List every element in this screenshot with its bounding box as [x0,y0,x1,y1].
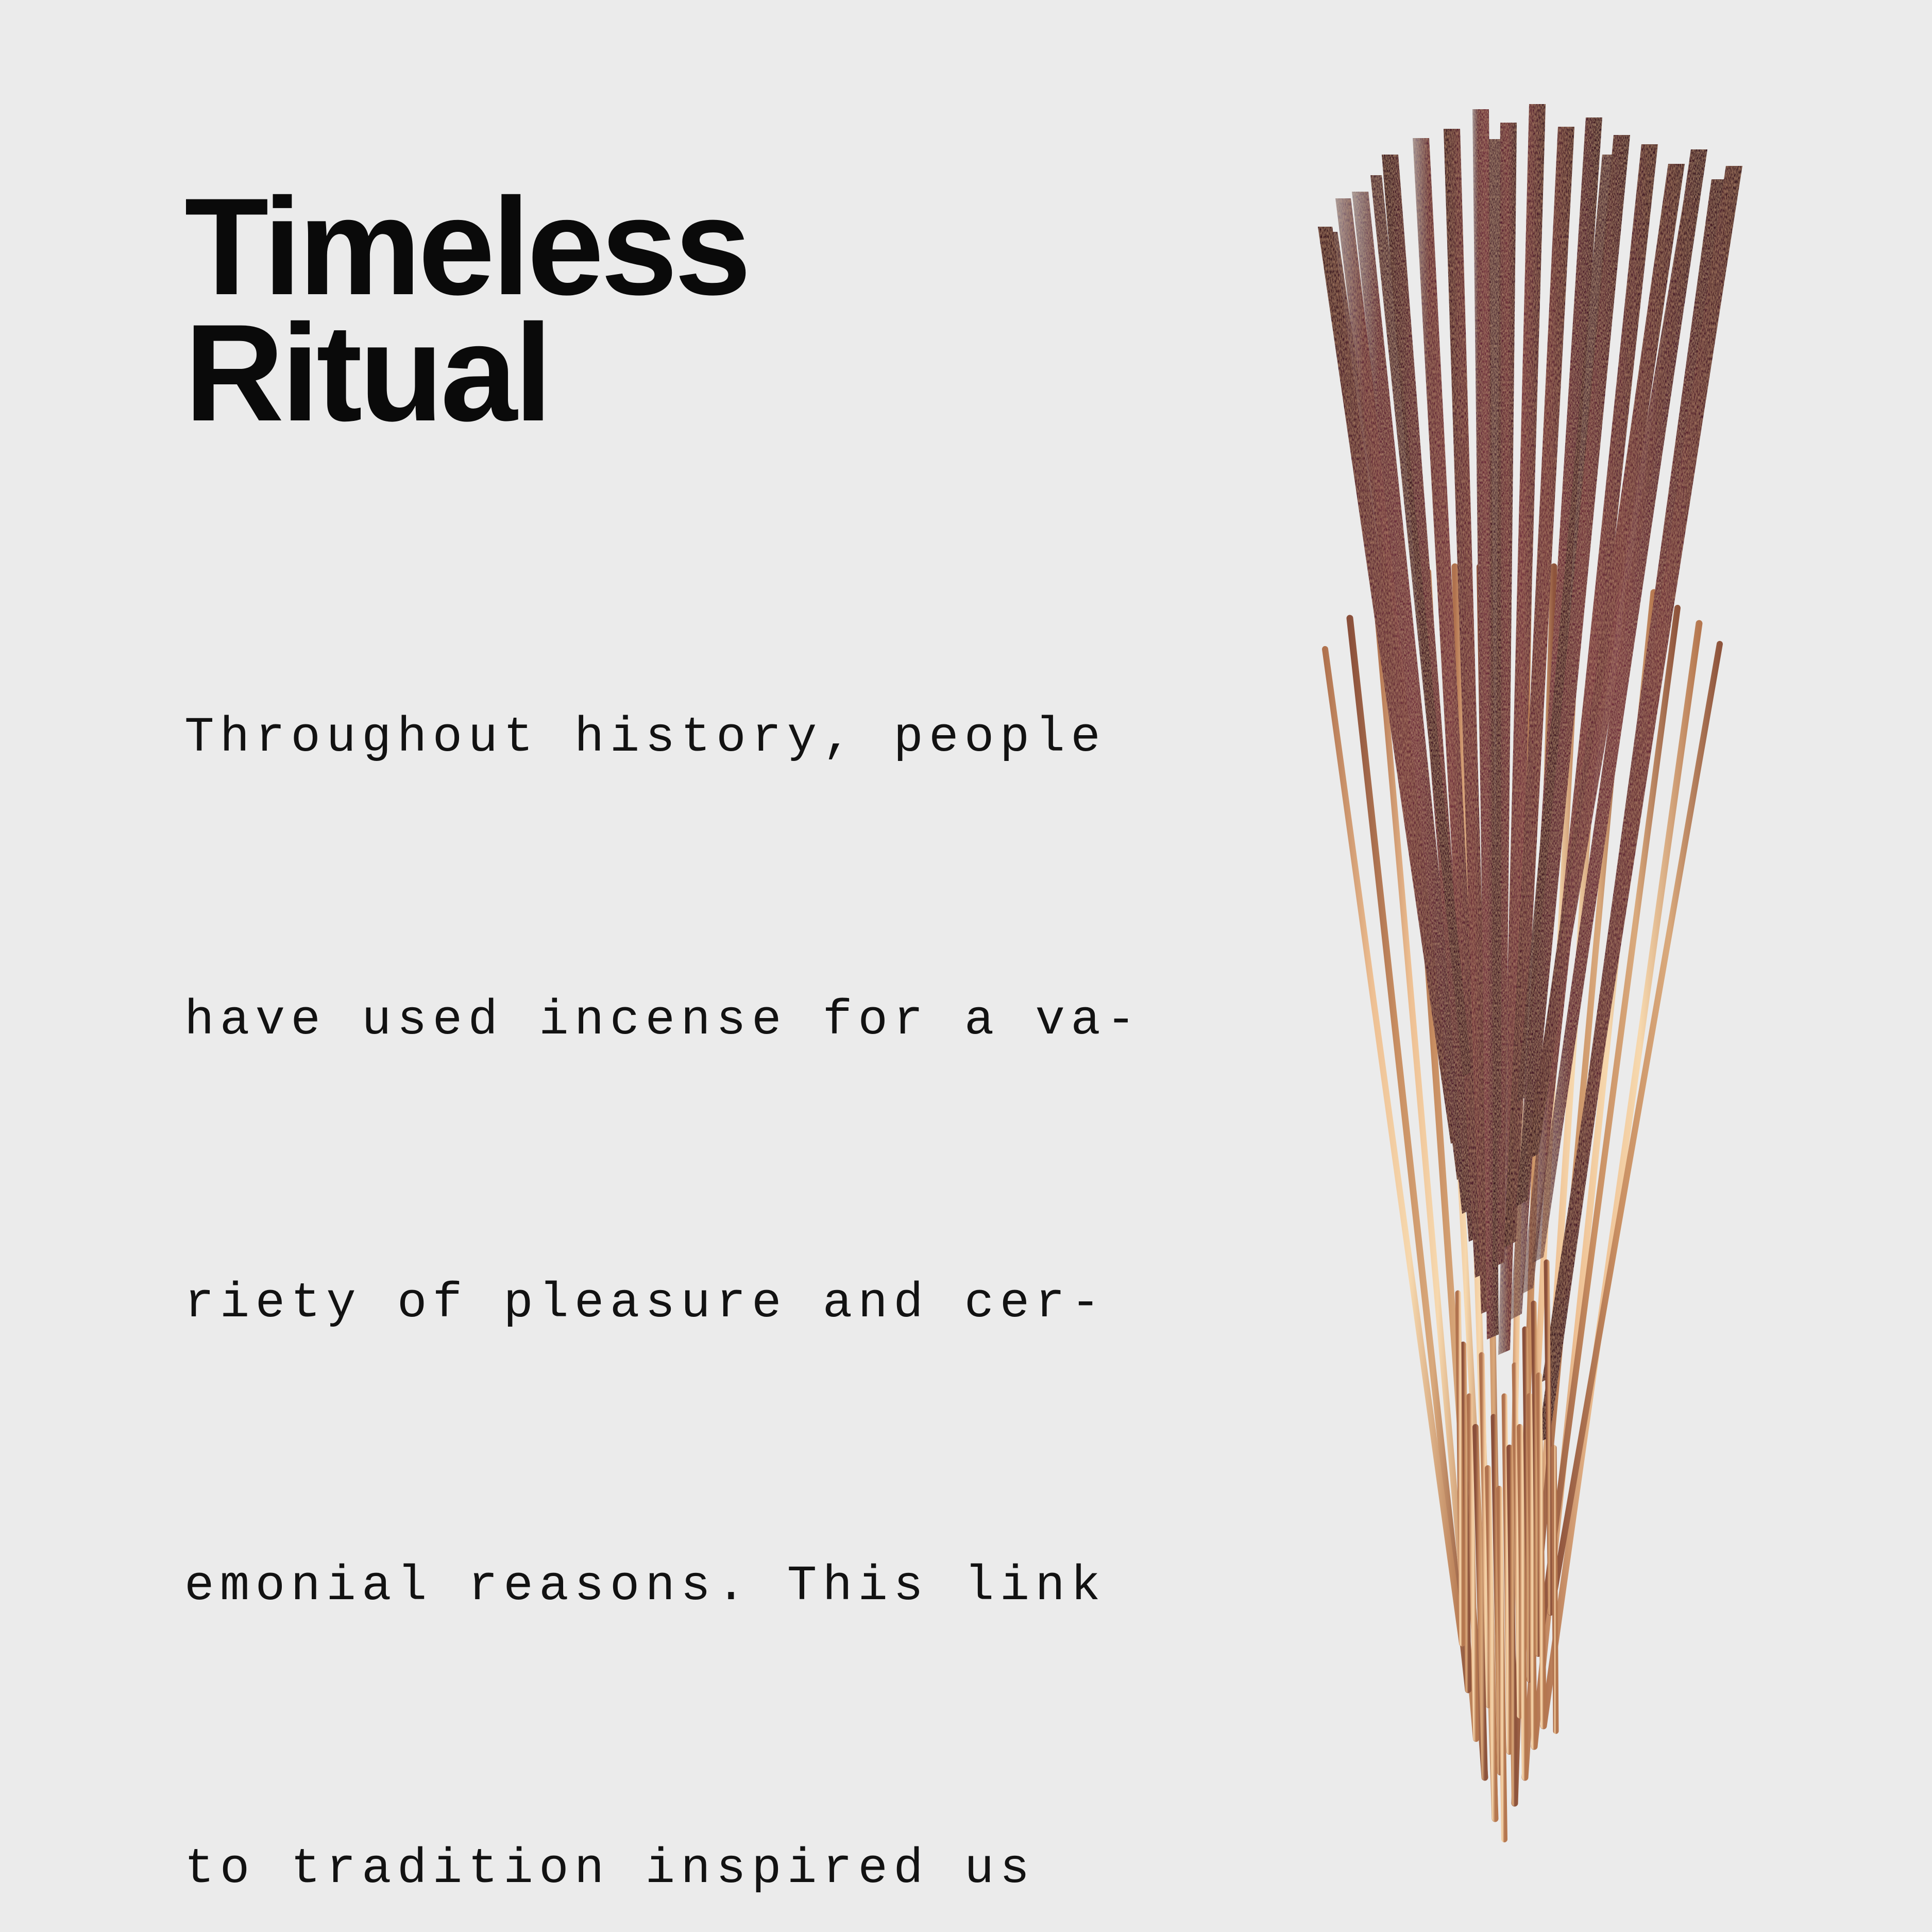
page-title-line-2: Ritual [184,310,1163,436]
body-line: emonial reasons. This link [184,1539,1163,1633]
page-title-line-1: Timeless [184,183,1163,310]
body-line: have used incense for a va- [184,973,1163,1067]
incense-bundle-illustration [1247,77,1767,1865]
page-title: Timeless Ritual [184,155,1163,436]
body-line: to tradition inspired us [184,1822,1163,1916]
body-paragraph: Throughout history, people have used inc… [184,436,1163,1932]
text-column: Timeless Ritual Throughout history, peop… [184,155,1163,1932]
incense-sticks-image [1247,77,1767,1865]
promo-card: Timeless Ritual Throughout history, peop… [0,0,1932,1932]
body-line: riety of pleasure and cer- [184,1256,1163,1350]
body-line: Throughout history, people [184,690,1163,785]
